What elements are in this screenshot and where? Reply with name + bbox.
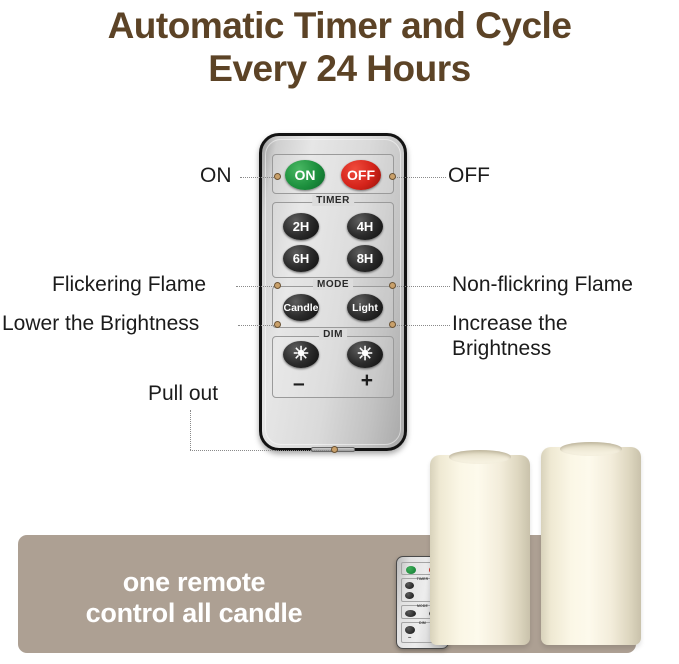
leader-lower-brightness: [238, 325, 276, 326]
callout-flickering-flame: Flickering Flame: [52, 272, 206, 297]
mini-dim-down-button[interactable]: [405, 626, 415, 634]
timer-2h-button[interactable]: 2H: [283, 213, 319, 240]
callout-on: ON: [200, 163, 232, 188]
candle-wax-pool: [560, 442, 623, 456]
leader-pull-out-horizontal: [190, 450, 335, 451]
mini-mode-label: MODE: [417, 604, 428, 608]
timer-8h-button[interactable]: 8H: [347, 245, 383, 272]
leader-flickering: [236, 286, 276, 287]
title-line-2: Every 24 Hours: [0, 47, 679, 90]
callout-non-flickering-flame: Non-flickring Flame: [452, 272, 633, 297]
mode-panel: MODE Candle Light: [272, 286, 394, 328]
timer-group-label: TIMER: [312, 195, 354, 206]
on-button[interactable]: ON: [285, 160, 325, 190]
remote-control: ON OFF TIMER 2H 4H 6H 8H MODE Candle Lig…: [259, 133, 407, 451]
leader-dot-flickering: [274, 282, 281, 289]
sun-icon: ☀: [292, 345, 309, 364]
candle-wax-pool: [449, 450, 512, 464]
leader-increase-brightness: [392, 325, 450, 326]
mini-on-button[interactable]: [406, 566, 416, 574]
mini-timer-2h-button[interactable]: [405, 582, 414, 589]
leader-dot-off: [389, 173, 396, 180]
mini-timer-label: TIMER: [417, 577, 429, 581]
mini-mode-candle-button[interactable]: [405, 610, 416, 617]
banner-line-2: control all candle: [18, 598, 370, 629]
mini-timer-6h-button[interactable]: [405, 592, 414, 599]
off-button[interactable]: OFF: [341, 160, 381, 190]
title-line-1: Automatic Timer and Cycle: [108, 5, 572, 46]
callout-off: OFF: [448, 163, 490, 188]
callout-increase-brightness-line-2: Brightness: [452, 337, 551, 360]
callout-increase-brightness-line-1: Increase the: [452, 312, 568, 335]
dim-minus-label: –: [293, 373, 305, 394]
leader-dot-non-flickering: [389, 282, 396, 289]
dim-down-button[interactable]: ☀: [283, 341, 319, 368]
mini-dim-label: DIM: [419, 621, 426, 625]
mode-group-label: MODE: [313, 279, 353, 290]
page-title: Automatic Timer and Cycle Every 24 Hours: [0, 0, 679, 90]
callout-increase-brightness: Increase the Brightness: [452, 311, 632, 361]
leader-pull-out-vertical: [190, 410, 191, 450]
banner-line-1: one remote: [123, 567, 266, 597]
timer-6h-button[interactable]: 6H: [283, 245, 319, 272]
mini-dim-minus-label: –: [408, 635, 411, 641]
leader-dot-lower-brightness: [274, 321, 281, 328]
mode-candle-button[interactable]: Candle: [283, 294, 319, 321]
dim-plus-label: +: [361, 370, 373, 391]
leader-dot-pull-out: [331, 446, 338, 453]
dim-up-button[interactable]: ☀: [347, 341, 383, 368]
candle-top-rim: [545, 440, 637, 466]
mode-light-button[interactable]: Light: [347, 294, 383, 321]
leader-non-flickering: [392, 286, 450, 287]
leader-dot-on: [274, 173, 281, 180]
candle: [430, 455, 530, 645]
candle-top-rim: [434, 448, 526, 474]
candle: [541, 447, 641, 645]
dim-panel: DIM ☀ ☀ – +: [272, 336, 394, 398]
leader-off: [392, 177, 446, 178]
timer-4h-button[interactable]: 4H: [347, 213, 383, 240]
banner-text: one remote control all candle: [18, 567, 370, 629]
power-panel: ON OFF: [272, 154, 394, 194]
dim-group-label: DIM: [319, 329, 347, 340]
callout-lower-brightness: Lower the Brightness: [2, 311, 199, 336]
sun-icon: ☀: [356, 345, 373, 364]
timer-panel: TIMER 2H 4H 6H 8H: [272, 202, 394, 278]
callout-pull-out: Pull out: [148, 381, 218, 406]
leader-on: [240, 177, 276, 178]
leader-dot-increase-brightness: [389, 321, 396, 328]
